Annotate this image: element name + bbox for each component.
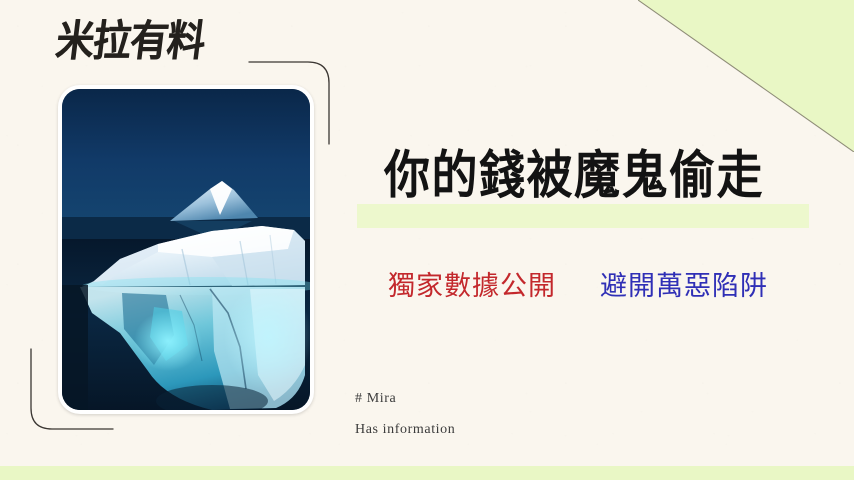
hero-photo-zone [30,55,330,430]
green-bottom-strip [0,466,854,480]
iceberg-photo-artwork [62,89,310,410]
subtitle-avoid-traps: 避開萬惡陷阱 [600,264,768,303]
iceberg-photo [62,89,310,410]
poster-canvas: 米拉有料 [0,0,854,480]
hero-photo-frame [58,85,314,414]
subtitle-exclusive-data: 獨家數據公開 [388,264,556,303]
footer-tagline: Has information [355,423,455,437]
page-title: 你的錢被魔鬼偷走 [384,148,764,202]
footer-block: # Mira Has information [355,392,455,454]
subtitle-row: 獨家數據公開 避開萬惡陷阱 [388,264,768,303]
footer-handle: # Mira [355,392,455,406]
headline-highlight-bar [357,204,809,228]
